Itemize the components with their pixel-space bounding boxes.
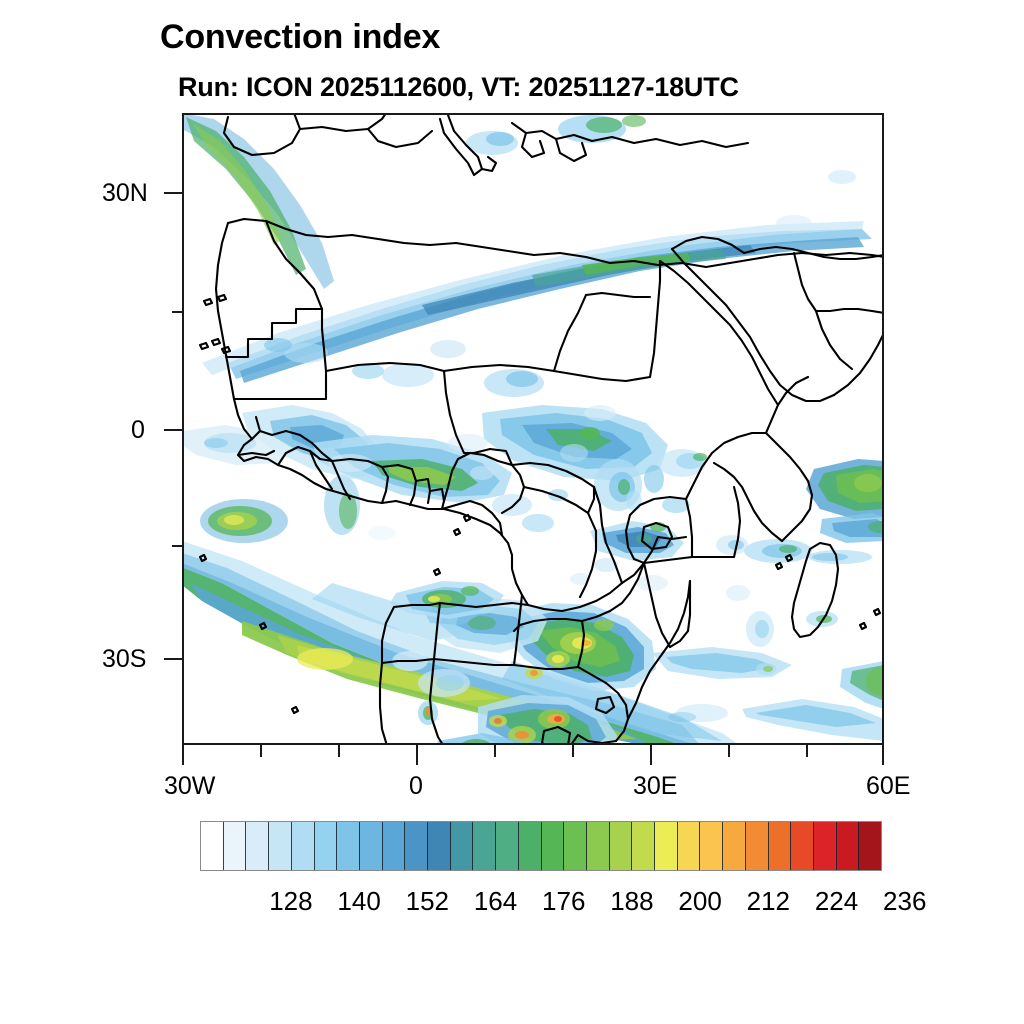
xtick-minor-10e — [494, 745, 496, 757]
colorbar-cell — [360, 822, 383, 870]
colorbar-cell — [383, 822, 406, 870]
colorbar-cell — [337, 822, 360, 870]
xtick-minor-40e — [728, 745, 730, 757]
colorbar-cell — [428, 822, 451, 870]
xtick-label-0: 0 — [409, 772, 423, 801]
xtick-label-30e: 30E — [633, 772, 677, 801]
colorbar-tick-label: 212 — [747, 886, 790, 917]
xtick-minor-50e — [806, 745, 808, 757]
colorbar-cell — [632, 822, 655, 870]
ytick-30n — [164, 192, 184, 194]
xtick-minor-10w — [338, 745, 340, 757]
xtick-0 — [416, 745, 418, 765]
colorbar-tick-label: 164 — [474, 886, 517, 917]
convection-index-chart: Convection index Run: ICON 2025112600, V… — [0, 0, 1024, 1024]
page-subtitle: Run: ICON 2025112600, VT: 20251127-18UTC — [178, 72, 739, 103]
colorbar-cell — [564, 822, 587, 870]
xtick-30e — [650, 745, 652, 765]
colorbar-cell — [791, 822, 814, 870]
colorbar-tick-label: 152 — [406, 886, 449, 917]
colorbar-tick-label: 236 — [883, 886, 926, 917]
colorbar-cell — [837, 822, 860, 870]
colorbar-cell — [542, 822, 565, 870]
colorbar-cell — [405, 822, 428, 870]
colorbar-cell — [746, 822, 769, 870]
colorbar-cell — [655, 822, 678, 870]
colorbar-cell — [587, 822, 610, 870]
ytick-minor-15s — [172, 545, 184, 547]
xtick-60e — [882, 745, 884, 765]
xtick-30w — [182, 745, 184, 765]
ytick-label-30n: 30N — [102, 179, 148, 208]
colorbar-cell — [269, 822, 292, 870]
colorbar-cell — [473, 822, 496, 870]
colorbar-cell — [678, 822, 701, 870]
ytick-label-30s: 30S — [102, 645, 146, 674]
ytick-30s — [164, 658, 184, 660]
colorbar-cell — [451, 822, 474, 870]
colorbar-tick-label: 224 — [815, 886, 858, 917]
colorbar — [200, 821, 882, 871]
colorbar-cell — [292, 822, 315, 870]
ytick-0 — [164, 429, 184, 431]
map-plot-area — [182, 113, 884, 745]
colorbar-tick-label: 200 — [678, 886, 721, 917]
colorbar-cell — [723, 822, 746, 870]
colorbar-tick-label: 176 — [542, 886, 585, 917]
colorbar-tick-label: 188 — [610, 886, 653, 917]
xtick-label-60e: 60E — [866, 772, 910, 801]
colorbar-tick-label: 140 — [337, 886, 380, 917]
xtick-label-30w: 30W — [164, 772, 215, 801]
page-title: Convection index — [160, 18, 440, 57]
colorbar-cell — [246, 822, 269, 870]
colorbar-cell — [769, 822, 792, 870]
colorbar-cell — [814, 822, 837, 870]
ytick-minor-15n — [172, 311, 184, 313]
colorbar-cell — [224, 822, 247, 870]
colorbar-cell — [315, 822, 338, 870]
map-svg — [182, 113, 884, 745]
xtick-minor-20w — [260, 745, 262, 757]
colorbar-cell — [700, 822, 723, 870]
colorbar-cell — [201, 822, 224, 870]
colorbar-cell — [496, 822, 519, 870]
xtick-minor-20e — [572, 745, 574, 757]
colorbar-cell — [859, 822, 881, 870]
colorbar-cell — [519, 822, 542, 870]
ytick-label-0: 0 — [131, 416, 145, 445]
colorbar-cell — [610, 822, 633, 870]
colorbar-tick-label: 128 — [269, 886, 312, 917]
